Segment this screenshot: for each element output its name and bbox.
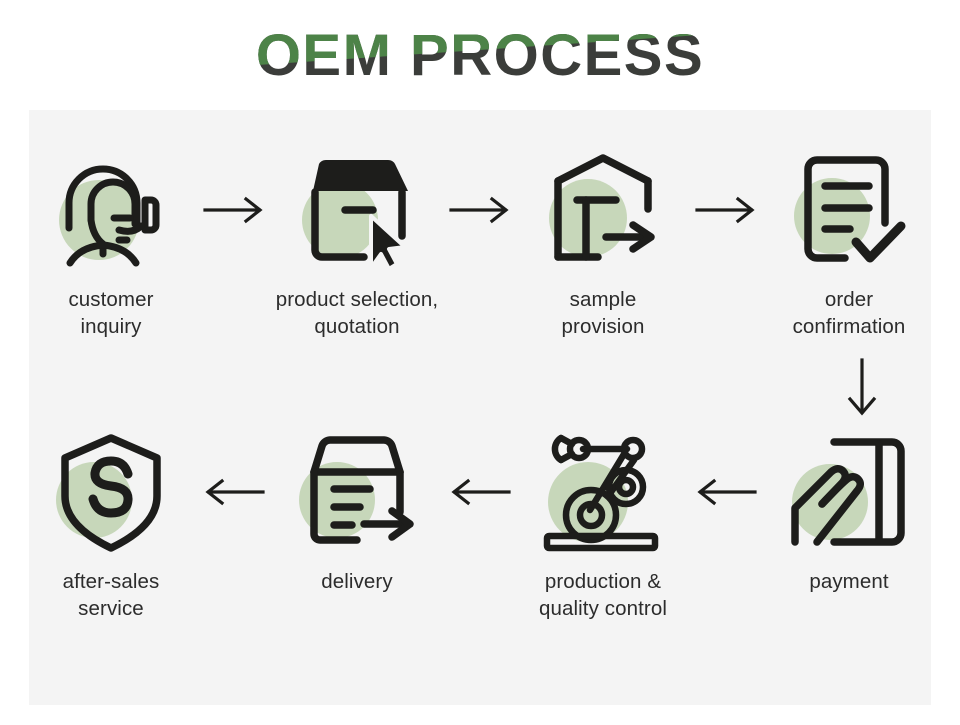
headset-support-icon [46,148,176,272]
process-step-label: payment [809,568,888,595]
process-step-label: delivery [321,568,392,595]
process-step-order-confirmation[interactable]: order confirmation [767,148,931,340]
arrow-right-icon [685,148,767,272]
box-document-arrow-icon [292,430,422,554]
page-title-container: OEM PROCESS OEM PROCESS [0,18,960,94]
document-check-icon [784,148,914,272]
process-step-label: product selection, quotation [276,286,438,340]
arrow-right-icon [193,148,275,272]
process-panel: customer inquiry [29,110,931,705]
arrow-left-icon [193,430,275,554]
arrow-right-icon [439,148,521,272]
process-step-production-quality[interactable]: production & quality control [521,430,685,622]
process-step-label: production & quality control [539,568,667,622]
process-step-delivery[interactable]: delivery [275,430,439,595]
process-step-label: order confirmation [793,286,906,340]
page-title: OEM PROCESS OEM PROCESS [256,18,704,94]
process-step-label: sample provision [562,286,645,340]
hand-credit-card-icon [784,430,914,554]
box-cursor-icon [292,148,422,272]
robot-arm-icon [538,430,668,554]
arrow-left-icon [439,430,521,554]
process-step-payment[interactable]: payment [767,430,931,595]
process-row-top: customer inquiry [29,148,931,340]
process-step-customer-inquiry[interactable]: customer inquiry [29,148,193,340]
arrow-down-icon [837,358,887,420]
process-step-label: customer inquiry [68,286,153,340]
page-title-dark-layer: OEM PROCESS [256,23,704,88]
process-row-bottom: after-sales service [29,430,931,622]
warehouse-outbound-icon [538,148,668,272]
process-step-product-selection[interactable]: product selection, quotation [275,148,439,340]
process-step-after-sales-service[interactable]: after-sales service [29,430,193,622]
process-step-label: after-sales service [63,568,160,622]
arrow-left-icon [685,430,767,554]
shield-s-icon [46,430,176,554]
process-step-sample-provision[interactable]: sample provision [521,148,685,340]
